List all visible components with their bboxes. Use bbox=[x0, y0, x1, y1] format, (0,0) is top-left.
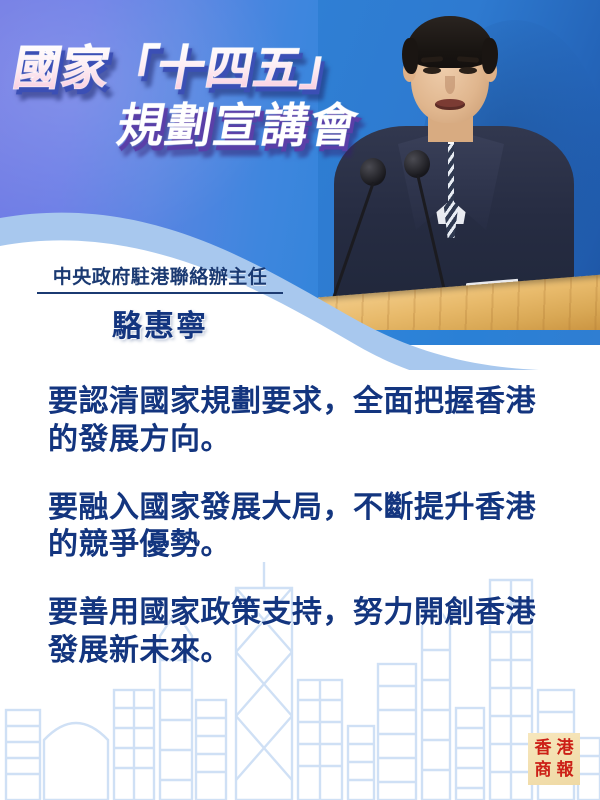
quote-1: 要認清國家規劃要求，全面把握香港的發展方向。 bbox=[48, 383, 548, 459]
title-line-2: 規劃宣講會 bbox=[113, 100, 362, 153]
speaker-identity: 中央政府駐港聯絡辦主任 駱惠寧 bbox=[30, 262, 290, 345]
logo-char-2: 港 bbox=[554, 738, 576, 758]
quote-3: 要善用國家政策支持，努力開創香港發展新未來。 bbox=[48, 594, 548, 670]
logo-char-3: 商 bbox=[532, 760, 554, 780]
hong-kong-commercial-daily-logo: 香 港 商 報 bbox=[528, 733, 580, 785]
speaker-role: 中央政府駐港聯絡辦主任 bbox=[30, 262, 290, 292]
logo-char-1: 香 bbox=[532, 738, 554, 758]
speaker-name: 駱惠寧 bbox=[30, 301, 290, 345]
quote-2: 要融入國家發展大局，不斷提升香港的競爭優勢。 bbox=[48, 489, 548, 565]
logo-char-4: 報 bbox=[554, 760, 576, 780]
poster-root: 國家「十四五」 規劃宣講會 中央政府駐港聯絡辦主任 駱惠寧 bbox=[0, 0, 600, 800]
title-line-1: 國家「十四五」 bbox=[9, 42, 354, 95]
quote-list: 要認清國家規劃要求，全面把握香港的發展方向。 要融入國家發展大局，不斷提升香港的… bbox=[48, 383, 548, 670]
role-underline bbox=[37, 292, 283, 294]
